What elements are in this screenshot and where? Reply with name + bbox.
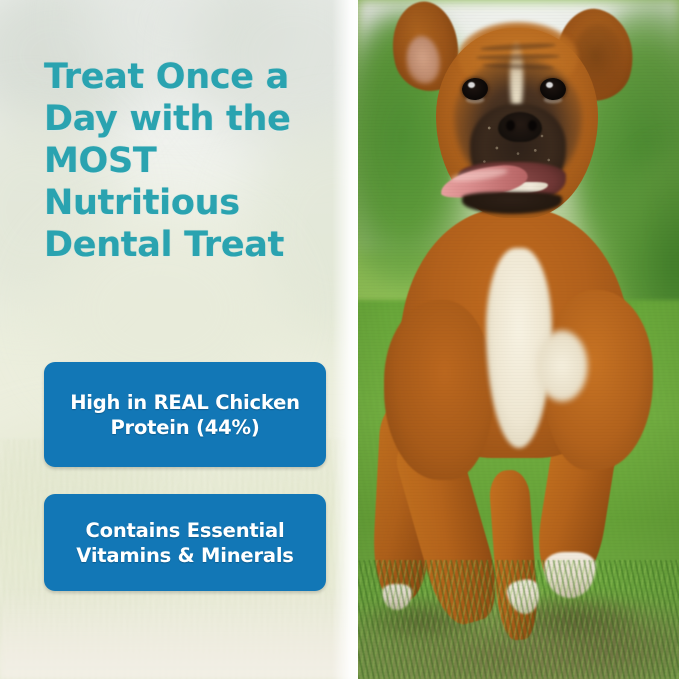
dog-nostril <box>506 120 515 131</box>
headline-line: Dental Treat <box>44 224 344 266</box>
badge-line: Vitamins & Minerals <box>76 543 293 568</box>
dog-eye-glint <box>546 82 553 88</box>
dog-chest-patch <box>536 330 588 402</box>
headline-line: Nutritious <box>44 182 344 224</box>
photo-foreground-grass <box>358 560 679 679</box>
product-banner: Treat Once a Day with the MOST Nutritiou… <box>0 0 679 679</box>
vitamins-badge: Contains Essential Vitamins & Minerals <box>44 494 326 591</box>
background-ground-texture <box>0 589 358 679</box>
headline-line: Day with the <box>44 98 344 140</box>
badge-line: Contains Essential <box>76 518 293 543</box>
badge-line: Protein (44%) <box>70 415 300 440</box>
protein-badge-text: High in REAL Chicken Protein (44%) <box>70 390 300 440</box>
dog-eye-glint <box>468 82 475 88</box>
vitamins-badge-text: Contains Essential Vitamins & Minerals <box>76 518 293 568</box>
dog-shoulder-left <box>384 300 494 480</box>
protein-badge: High in REAL Chicken Protein (44%) <box>44 362 326 467</box>
dog-photo <box>358 0 679 679</box>
dog-nostril <box>528 120 537 131</box>
page-title: Treat Once a Day with the MOST Nutritiou… <box>44 56 344 266</box>
badge-line: High in REAL Chicken <box>70 390 300 415</box>
headline-line: MOST <box>44 140 344 182</box>
headline-line: Treat Once a <box>44 56 344 98</box>
